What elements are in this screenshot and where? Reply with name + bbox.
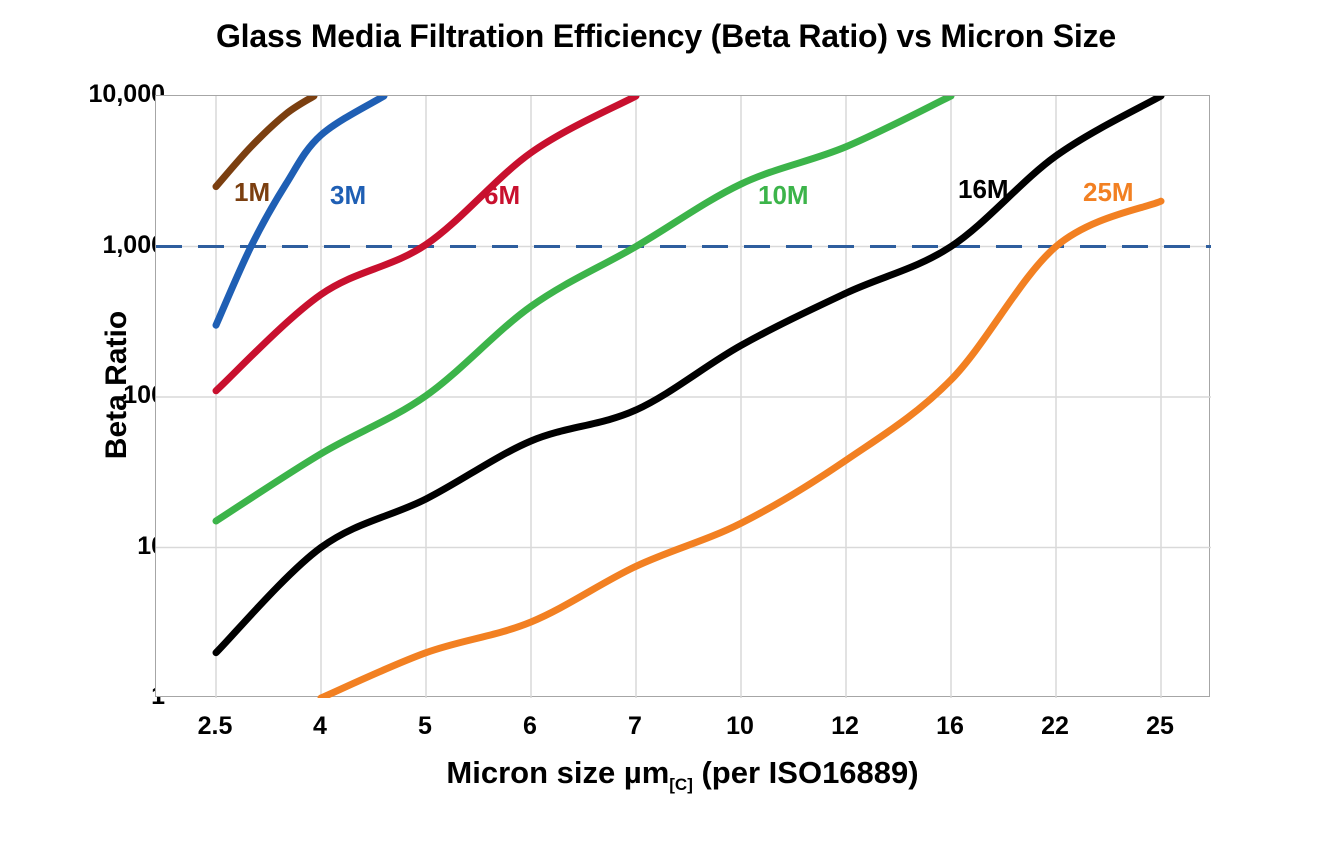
y-tick-label: 100 bbox=[45, 383, 165, 408]
x-tick-label: 12 bbox=[800, 712, 890, 741]
x-tick-label: 5 bbox=[380, 712, 470, 741]
beta-ratio-chart: Glass Media Filtration Efficiency (Beta … bbox=[0, 0, 1332, 842]
series-label-6m: 6M bbox=[484, 180, 520, 211]
x-tick-label: 2.5 bbox=[170, 712, 260, 741]
plot-area bbox=[155, 95, 1210, 697]
x-tick-label: 16 bbox=[905, 712, 995, 741]
series-label-10m: 10M bbox=[758, 180, 809, 211]
y-tick-label: 1,000 bbox=[45, 233, 165, 258]
x-tick-label: 10 bbox=[695, 712, 785, 741]
x-tick-label: 22 bbox=[1010, 712, 1100, 741]
y-tick-label: 1 bbox=[45, 684, 165, 709]
series-label-25m: 25M bbox=[1083, 177, 1134, 208]
x-tick-label: 7 bbox=[590, 712, 680, 741]
y-tick-label: 10,000 bbox=[45, 82, 165, 107]
series-label-16m: 16M bbox=[958, 174, 1009, 205]
x-tick-label: 25 bbox=[1115, 712, 1205, 741]
x-axis-label-main: Micron size µm bbox=[446, 755, 669, 790]
x-axis-label-suffix: (per ISO16889) bbox=[693, 755, 919, 790]
chart-title: Glass Media Filtration Efficiency (Beta … bbox=[0, 18, 1332, 55]
x-axis-label-subscript: [C] bbox=[669, 775, 693, 794]
y-tick-label: 10 bbox=[45, 534, 165, 559]
series-label-1m: 1M bbox=[234, 177, 270, 208]
x-tick-label: 6 bbox=[485, 712, 575, 741]
x-tick-label: 4 bbox=[275, 712, 365, 741]
x-axis-label: Micron size µm[C] (per ISO16889) bbox=[155, 755, 1210, 795]
series-lines bbox=[156, 96, 1211, 698]
series-label-3m: 3M bbox=[330, 180, 366, 211]
